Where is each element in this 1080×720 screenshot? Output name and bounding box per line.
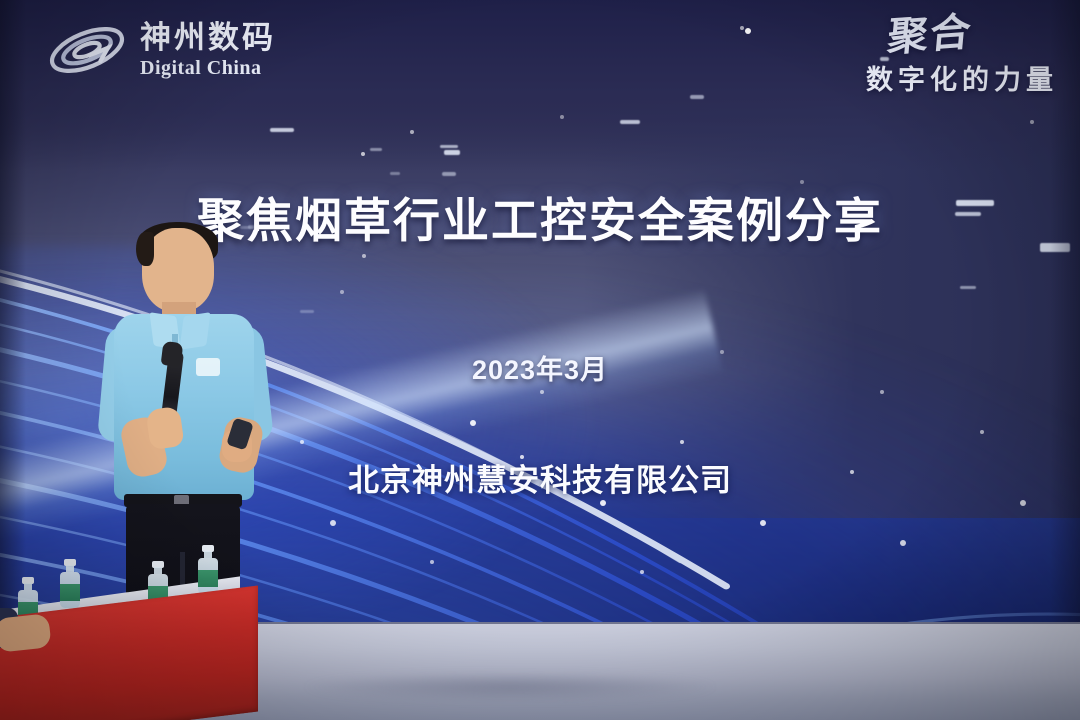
digital-china-wordmark: 神州数码 Digital China bbox=[140, 22, 276, 78]
light-dash bbox=[370, 148, 382, 151]
light-particle bbox=[680, 440, 684, 444]
water-bottle bbox=[60, 560, 80, 608]
light-dash bbox=[690, 95, 704, 99]
brand-name-en: Digital China bbox=[140, 58, 276, 78]
light-particle bbox=[470, 420, 476, 426]
light-dash bbox=[960, 286, 976, 289]
galaxy-swoosh-icon bbox=[44, 18, 130, 82]
light-dash bbox=[440, 145, 458, 148]
light-particle bbox=[300, 440, 304, 444]
microphone-head bbox=[161, 341, 184, 367]
light-dash bbox=[444, 150, 460, 155]
speaker-hair-side bbox=[136, 232, 154, 266]
light-particle bbox=[760, 520, 766, 526]
bottle-neck bbox=[204, 551, 212, 558]
event-logo: 聚合 数字化的力量 bbox=[866, 16, 1058, 97]
presentation-photo: 神州数码 Digital China 聚合 数字化的力量 聚焦烟草行业工控安全案… bbox=[0, 0, 1080, 720]
light-dash bbox=[390, 172, 400, 175]
light-particle bbox=[640, 570, 644, 574]
light-particle bbox=[740, 26, 744, 30]
light-dash bbox=[300, 310, 314, 313]
bottle-neck bbox=[66, 565, 74, 572]
light-particle bbox=[540, 390, 544, 394]
stage-floor-scuff bbox=[300, 672, 720, 702]
light-dash bbox=[270, 128, 294, 132]
left-edge-shade bbox=[0, 0, 26, 622]
bottle-label bbox=[198, 570, 218, 587]
light-particle bbox=[340, 290, 344, 294]
bottle-neck bbox=[24, 583, 32, 590]
light-particle bbox=[430, 560, 434, 564]
light-dash bbox=[442, 172, 456, 176]
light-particle bbox=[361, 152, 365, 156]
light-dash bbox=[620, 120, 640, 124]
bottle-label bbox=[60, 584, 80, 601]
seated-person-arm bbox=[0, 613, 52, 652]
digital-china-logo: 神州数码 Digital China bbox=[44, 18, 276, 82]
light-particle bbox=[745, 28, 751, 34]
light-particle bbox=[900, 540, 906, 546]
light-particle bbox=[1020, 500, 1026, 506]
event-logo-tagline: 数字化的力量 bbox=[866, 58, 1058, 97]
speaker-chest-badge bbox=[196, 358, 220, 376]
light-particle bbox=[330, 520, 336, 526]
event-logo-calligraphy: 聚合 bbox=[886, 13, 974, 57]
water-bottle bbox=[198, 546, 218, 594]
light-particle bbox=[560, 115, 564, 119]
bottle-neck bbox=[154, 567, 162, 574]
speaker-collar-right bbox=[179, 312, 210, 350]
brand-name-cn: 神州数码 bbox=[140, 22, 276, 53]
light-particle bbox=[980, 430, 984, 434]
light-particle bbox=[1030, 120, 1034, 124]
light-particle bbox=[600, 500, 606, 506]
seated-audience-member bbox=[0, 606, 54, 662]
light-particle bbox=[880, 390, 884, 394]
light-particle bbox=[410, 130, 414, 134]
light-particle bbox=[362, 254, 366, 258]
speaker-presenter bbox=[96, 222, 276, 622]
